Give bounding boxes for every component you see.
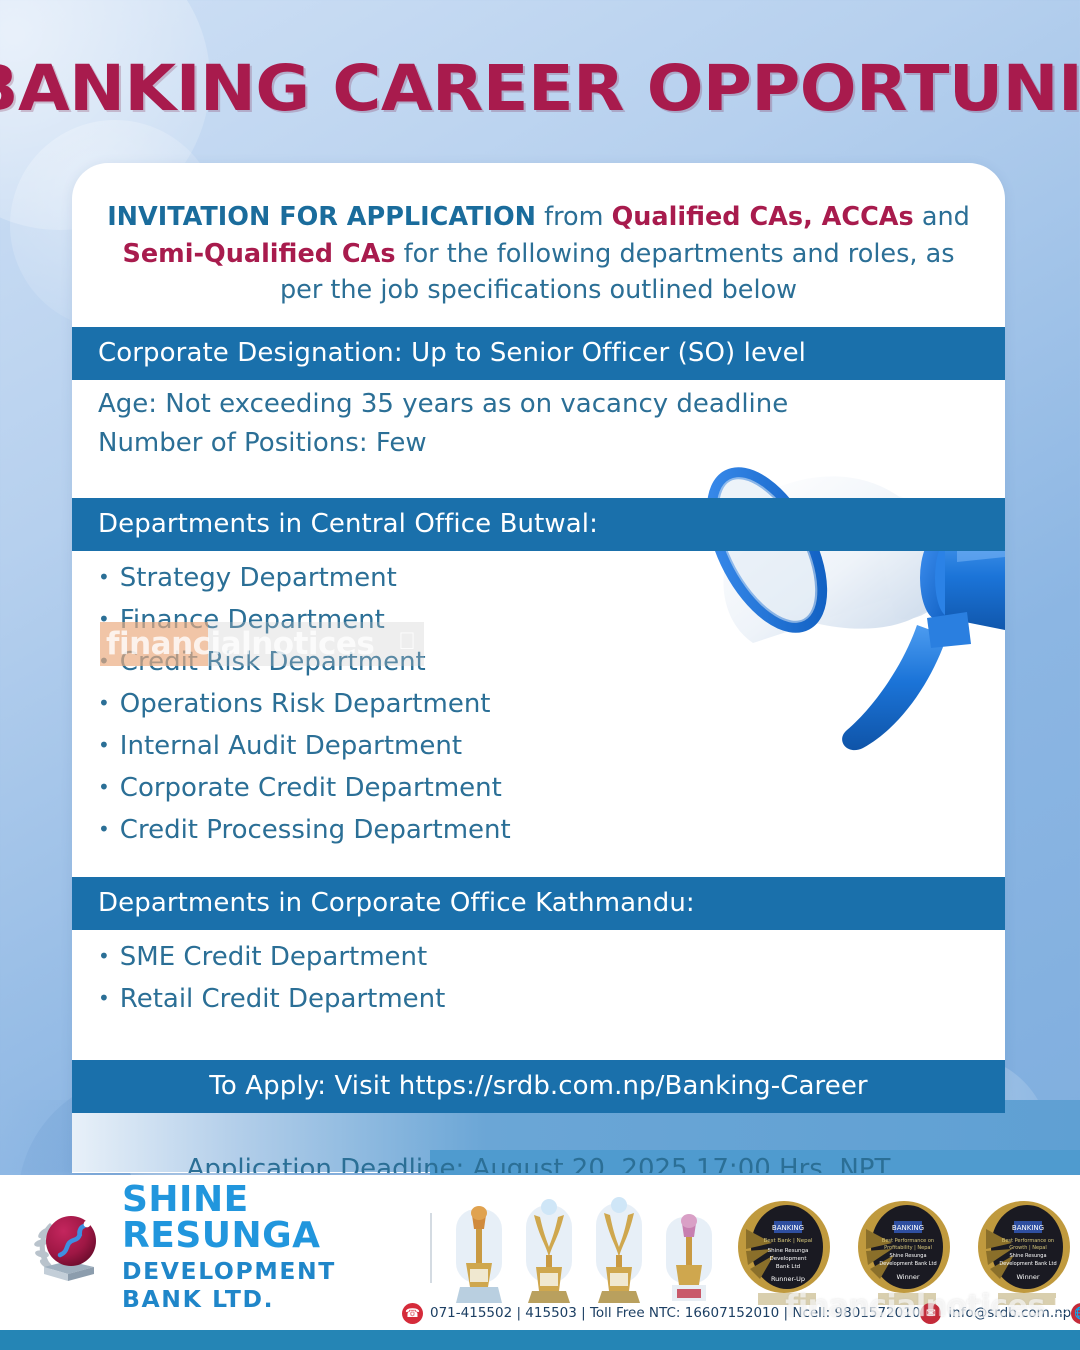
invitation-lead: INVITATION FOR APPLICATION [107,202,536,232]
invitation-highlight-1: Qualified CAs, ACCAs [612,202,914,232]
award-trophy [448,1195,510,1307]
invitation-mid1: from [536,202,612,232]
plaque-label: Winner [896,1273,919,1281]
butwal-section-bar: Departments in Central Office Butwal: [72,498,1005,551]
watermark-text-footer: financialnotices [785,1289,1044,1324]
invitation-paragraph: INVITATION FOR APPLICATION from Qualifie… [72,163,1005,327]
svg-text:Shine Resunga: Shine Resunga [1009,1253,1046,1259]
list-item: Corporate Credit Department [98,767,1005,809]
apply-bar[interactable]: To Apply: Visit https://srdb.com.np/Bank… [72,1060,1005,1113]
list-item: Credit Processing Department [98,809,1005,851]
award-trophy [518,1195,580,1307]
contact-website[interactable]: 🌐 www.srdb.com.np [1071,1303,1080,1324]
deadline-text: Application Deadline: August 20, 2025 17… [72,1145,1005,1173]
svg-text:BANKING: BANKING [772,1224,804,1232]
list-item: SME Credit Department [98,936,1005,978]
kathmandu-section-bar: Departments in Corporate Office Kathmand… [72,877,1005,930]
apple-icon:  [1053,1293,1070,1320]
plaque-label: Runner-Up [771,1275,805,1283]
svg-text:Best Bank | Nepal: Best Bank | Nepal [764,1238,813,1244]
svg-text:BANKING: BANKING [892,1224,924,1232]
bank-logo: SHINE RESUNGA DEVELOPMENT BANK LTD. [0,1182,406,1313]
shine-resunga-logo-icon [30,1211,108,1285]
svg-text:Development: Development [769,1256,807,1262]
page-title: BANKING CAREER OPPORTUNITY [0,52,1080,125]
list-item: Retail Credit Department [98,978,1005,1020]
svg-text:Shine Resunga: Shine Resunga [889,1253,926,1259]
invitation-mid2: and [914,202,970,232]
list-item: Operations Risk Department [98,683,1005,725]
svg-text:Growth | Nepal: Growth | Nepal [1009,1245,1046,1251]
award-trophy [658,1195,720,1307]
watermark-text: financialnotices [100,626,374,662]
watermark-overlay-footer: financialnotices  [785,1289,1070,1324]
age-line: Age: Not exceeding 35 years as on vacanc… [72,380,1005,419]
butwal-department-list: Strategy Department Finance Department C… [72,551,1005,851]
svg-text:BANKING: BANKING [1012,1224,1044,1232]
watermark-overlay: financialnotices  [100,622,424,666]
svg-text:Profitability | Nepal: Profitability | Nepal [884,1245,932,1251]
footer: SHINE RESUNGA DEVELOPMENT BANK LTD. [0,1175,1080,1350]
globe-icon: 🌐 [1071,1303,1080,1324]
list-item: Strategy Department [98,557,1005,599]
svg-text:Best Performance on: Best Performance on [1002,1238,1054,1244]
svg-text:Bank Ltd: Bank Ltd [776,1264,800,1270]
svg-text:Best Performance on: Best Performance on [882,1238,934,1244]
poster-title-container: BANKING CAREER OPPORTUNITY [0,52,1080,125]
svg-text:Development Bank Ltd: Development Bank Ltd [999,1261,1056,1267]
svg-text:Shine Resunga: Shine Resunga [768,1248,809,1254]
svg-text:Development Bank Ltd: Development Bank Ltd [879,1261,936,1267]
apple-icon:  [398,628,416,656]
plaque-label: Winner [1016,1273,1039,1281]
phone-icon: ☎ [402,1303,423,1324]
kathmandu-department-list: SME Credit Department Retail Credit Depa… [72,930,1005,1020]
list-item: Internal Audit Department [98,725,1005,767]
positions-line: Number of Positions: Few [72,419,1005,458]
main-content-card: INVITATION FOR APPLICATION from Qualifie… [72,163,1005,1173]
designation-bar: Corporate Designation: Up to Senior Offi… [72,327,1005,380]
logo-line-1: SHINE RESUNGA [122,1182,406,1254]
bottom-color-strip [0,1330,1080,1350]
invitation-highlight-2: Semi-Qualified CAs [122,239,395,269]
award-trophy [588,1195,650,1307]
